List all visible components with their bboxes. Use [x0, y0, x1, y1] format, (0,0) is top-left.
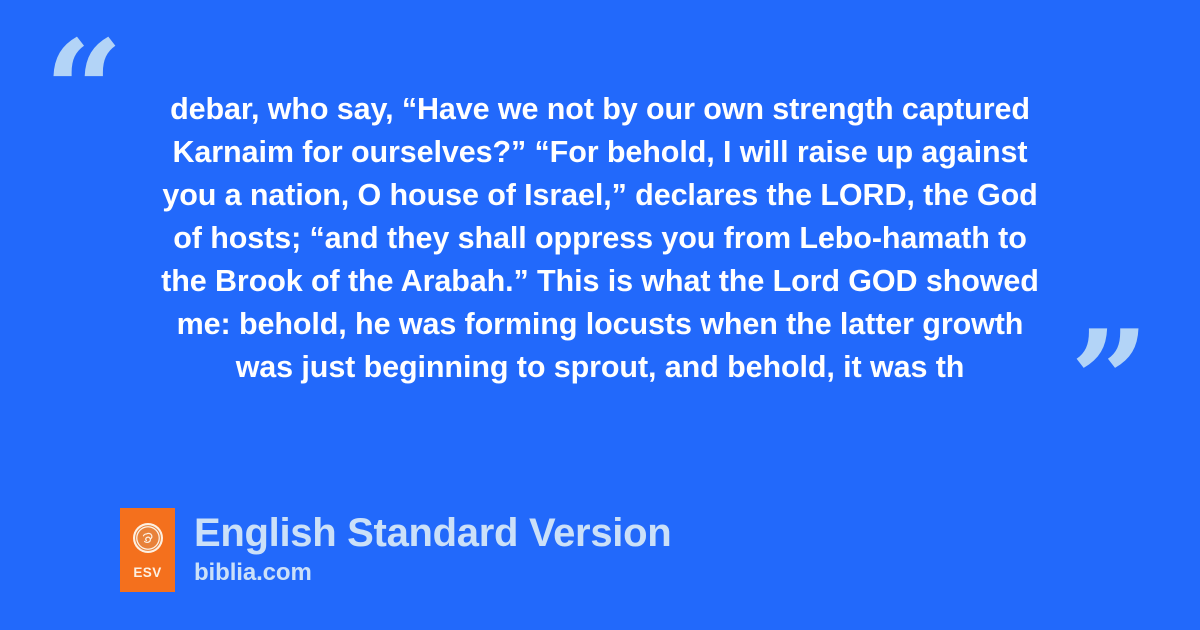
quote-line: me: behold, he was forming locusts when … [100, 303, 1100, 346]
branding-footer: ESV English Standard Version biblia.com [120, 508, 671, 592]
esv-seal-icon [132, 522, 164, 554]
quote-line: the Brook of the Arabah.” This is what t… [100, 260, 1100, 303]
quote-line: you a nation, O house of Israel,” declar… [100, 174, 1100, 217]
biblia-url-label[interactable]: biblia.com [194, 558, 671, 588]
brand-text-group: English Standard Version biblia.com [194, 508, 671, 588]
quote-text-block: debar, who say, “Have we not by our own … [100, 88, 1100, 389]
quote-line: of hosts; “and they shall oppress you fr… [100, 217, 1100, 260]
quote-line: was just beginning to sprout, and behold… [100, 346, 1100, 389]
quote-line: Karnaim for ourselves?” “For behold, I w… [100, 131, 1100, 174]
esv-logo-badge: ESV [120, 508, 175, 592]
quote-line: debar, who say, “Have we not by our own … [100, 88, 1100, 131]
esv-abbreviation-label: ESV [133, 565, 161, 580]
bible-version-title: English Standard Version [194, 510, 671, 556]
